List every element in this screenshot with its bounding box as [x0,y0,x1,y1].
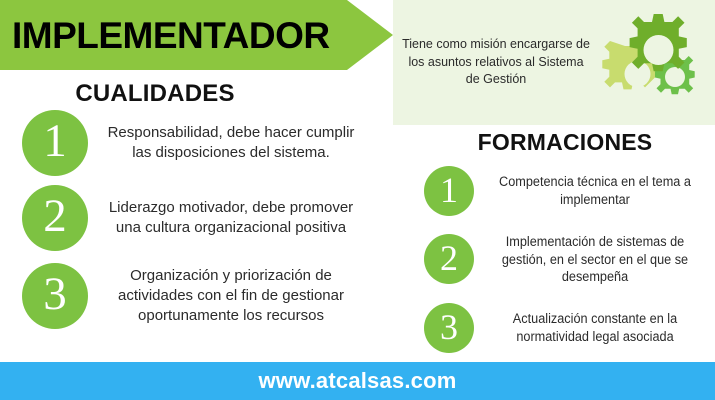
list-item-text: Responsabilidad, debe hacer cumplir las … [100,123,362,163]
list-item: 3 Actualización constante en la normativ… [424,303,712,353]
right-column-heading: FORMACIONES [420,129,710,156]
list-item-text: Liderazgo motivador, debe promover una c… [100,198,362,238]
number-badge: 3 [22,263,88,329]
number-badge: 3 [424,303,474,353]
number-badge: 1 [424,166,474,216]
infographic-canvas: IMPLEMENTADOR Tiene como misión encargar… [0,0,715,400]
number-badge: 1 [22,110,88,176]
left-column-heading: CUALIDADES [0,80,310,108]
list-item-text: Implementación de sistemas de gestión, e… [489,233,701,286]
gear-dark-icon [630,14,687,71]
list-item-text: Actualización constante en la normativid… [489,310,701,345]
footer-bar: www.atcalsas.com [0,362,715,400]
number-badge: 2 [22,185,88,251]
title-banner: IMPLEMENTADOR [0,0,393,70]
list-item: 1 Competencia técnica en el tema a imple… [424,166,712,216]
list-item-text: Organización y priorización de actividad… [100,266,362,326]
list-item: 3 Organización y priorización de activid… [22,263,372,329]
list-item: 1 Responsabilidad, debe hacer cumplir la… [22,110,372,176]
list-item: 2 Liderazgo motivador, debe promover una… [22,185,372,251]
list-item: 2 Implementación de sistemas de gestión,… [424,233,712,286]
list-item-text: Competencia técnica en el tema a impleme… [489,173,701,208]
website-url[interactable]: www.atcalsas.com [258,368,456,394]
mission-panel: Tiene como misión encargarse de los asun… [393,0,715,125]
gears-icon [589,8,707,112]
page-title: IMPLEMENTADOR [12,17,330,54]
mission-text: Tiene como misión encargarse de los asun… [401,36,591,89]
number-badge: 2 [424,234,474,284]
